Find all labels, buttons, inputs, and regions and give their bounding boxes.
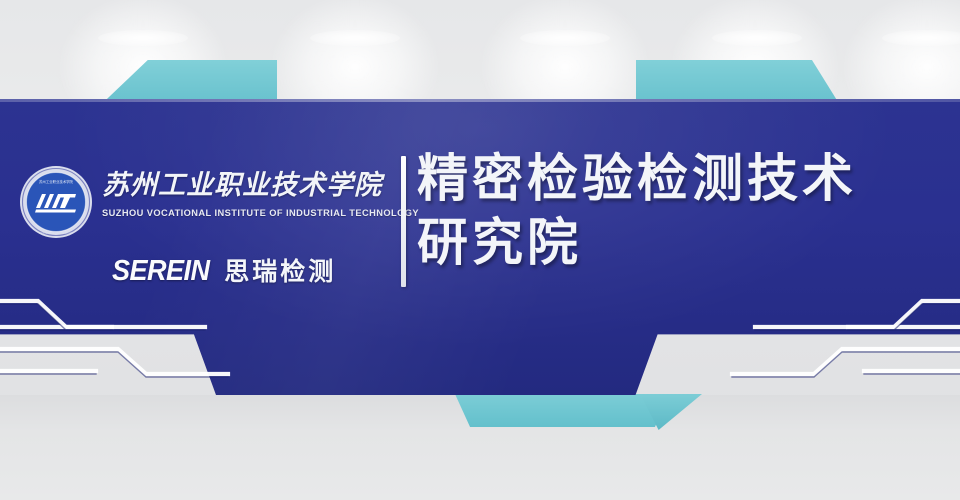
svg-text:INDUSTRIAL TECHNOLOGY: INDUSTRIAL TECHNOLOGY: [39, 231, 74, 235]
headline-line-1: 精密检验检测技术: [417, 148, 947, 212]
spotlight-core-2: [310, 30, 400, 46]
university-branding: 苏州工业职业技术学院 INDUSTRIAL TECHNOLOGY 苏州工业职业技…: [16, 160, 391, 252]
suzhou-institute-emblem-icon: 苏州工业职业技术学院 INDUSTRIAL TECHNOLOGY: [18, 164, 94, 240]
spotlight-core-1: [98, 30, 188, 46]
headline-line-2: 研究院: [417, 212, 947, 276]
vertical-divider: [401, 156, 406, 287]
university-name-cn-wrap: 苏州工业职业技术学院: [102, 164, 392, 210]
university-name-en: SUZHOU VOCATIONAL INSTITUTE OF INDUSTRIA…: [102, 208, 414, 218]
teal-trapezoid-bottom-center: [455, 394, 670, 427]
signage-scene: 苏州工业职业技术学院 INDUSTRIAL TECHNOLOGY 苏州工业职业技…: [0, 0, 960, 500]
company-branding: SEREIN 思瑞检测: [112, 252, 392, 288]
spotlight-core-3: [520, 30, 610, 46]
spotlight-core-4: [712, 30, 802, 46]
headline: 精密检验检测技术 研究院: [417, 148, 947, 276]
university-name-cn: 苏州工业职业技术学院: [102, 164, 392, 208]
ceiling-spotlight-5: [812, 0, 960, 103]
company-name-cn: 思瑞检测: [224, 252, 336, 288]
company-name-en: SEREIN: [112, 253, 210, 288]
svg-text:苏州工业职业技术学院: 苏州工业职业技术学院: [39, 179, 74, 184]
